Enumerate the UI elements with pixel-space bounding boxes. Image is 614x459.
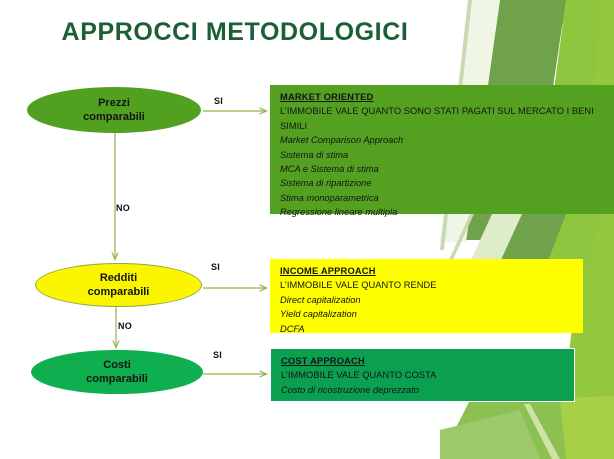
deco-band-bottom-lime (560, 396, 614, 459)
box-market-item: Regressione lineare multipla (280, 205, 614, 219)
box-cost-approach[interactable]: COST APPROACH L’IMMOBILE VALE QUANTO COS… (270, 348, 575, 402)
node-prezzi-line2: comparabili (83, 110, 145, 124)
arrow-label-si-income: SI (211, 262, 220, 272)
arrow-label-si-market: SI (214, 96, 223, 106)
deco-band-mid-lime (548, 214, 600, 262)
node-costi-comparabili[interactable]: Costi comparabili (31, 350, 203, 394)
node-costi-line2: comparabili (86, 372, 148, 386)
node-prezzi-line1: Prezzi (98, 96, 130, 110)
box-cost-header: COST APPROACH (281, 354, 574, 368)
deco-band-bottom-pale (440, 410, 540, 459)
box-market-item: Market Comparison Approach (280, 133, 614, 147)
page-title: APPROCCI METODOLOGICI (0, 18, 470, 47)
box-market-oriented[interactable]: MARKET ORIENTED L’IMMOBILE VALE QUANTO S… (270, 85, 614, 214)
box-cost-subtitle: L’IMMOBILE VALE QUANTO COSTA (281, 368, 574, 382)
deco-band-bottom-light (440, 398, 614, 459)
box-income-item: Direct capitalization (280, 293, 583, 307)
box-cost-item: Costo di ricostruzione deprezzato (281, 383, 574, 397)
box-income-approach[interactable]: INCOME APPROACH L’IMMOBILE VALE QUANTO R… (270, 259, 583, 333)
deco-band-bottom-hair (524, 404, 560, 459)
node-redditi-line2: comparabili (88, 285, 150, 299)
box-market-item: Sistema di ripartizione (280, 176, 614, 190)
slide-canvas: APPROCCI METODOLOGICI SI SI SI NO NO Pre… (0, 0, 614, 459)
box-income-item: DCFA (280, 322, 583, 336)
node-costi-line1: Costi (103, 358, 131, 372)
box-market-header: MARKET ORIENTED (280, 90, 614, 104)
box-market-subtitle: L’IMMOBILE VALE QUANTO SONO STATI PAGATI… (280, 104, 614, 133)
arrow-label-no-1: NO (116, 203, 130, 213)
arrow-label-si-cost: SI (213, 350, 222, 360)
box-income-item: Yield capitalization (280, 307, 583, 321)
arrow-label-no-2: NO (118, 321, 132, 331)
deco-band-mid-olive (496, 214, 566, 262)
node-redditi-comparabili[interactable]: Redditi comparabili (35, 263, 202, 307)
node-redditi-line1: Redditi (100, 271, 137, 285)
box-market-item: Stima monoparametrica (280, 191, 614, 205)
deco-band-mid-hair (448, 214, 474, 262)
deco-band-mid-pale (470, 214, 522, 262)
box-market-item: MCA e Sistema di stima (280, 162, 614, 176)
box-income-subtitle: L’IMMOBILE VALE QUANTO RENDE (280, 278, 583, 292)
node-prezzi-comparabili[interactable]: Prezzi comparabili (27, 87, 201, 133)
box-market-item: Sistema di stima (280, 148, 614, 162)
box-income-header: INCOME APPROACH (280, 264, 583, 278)
